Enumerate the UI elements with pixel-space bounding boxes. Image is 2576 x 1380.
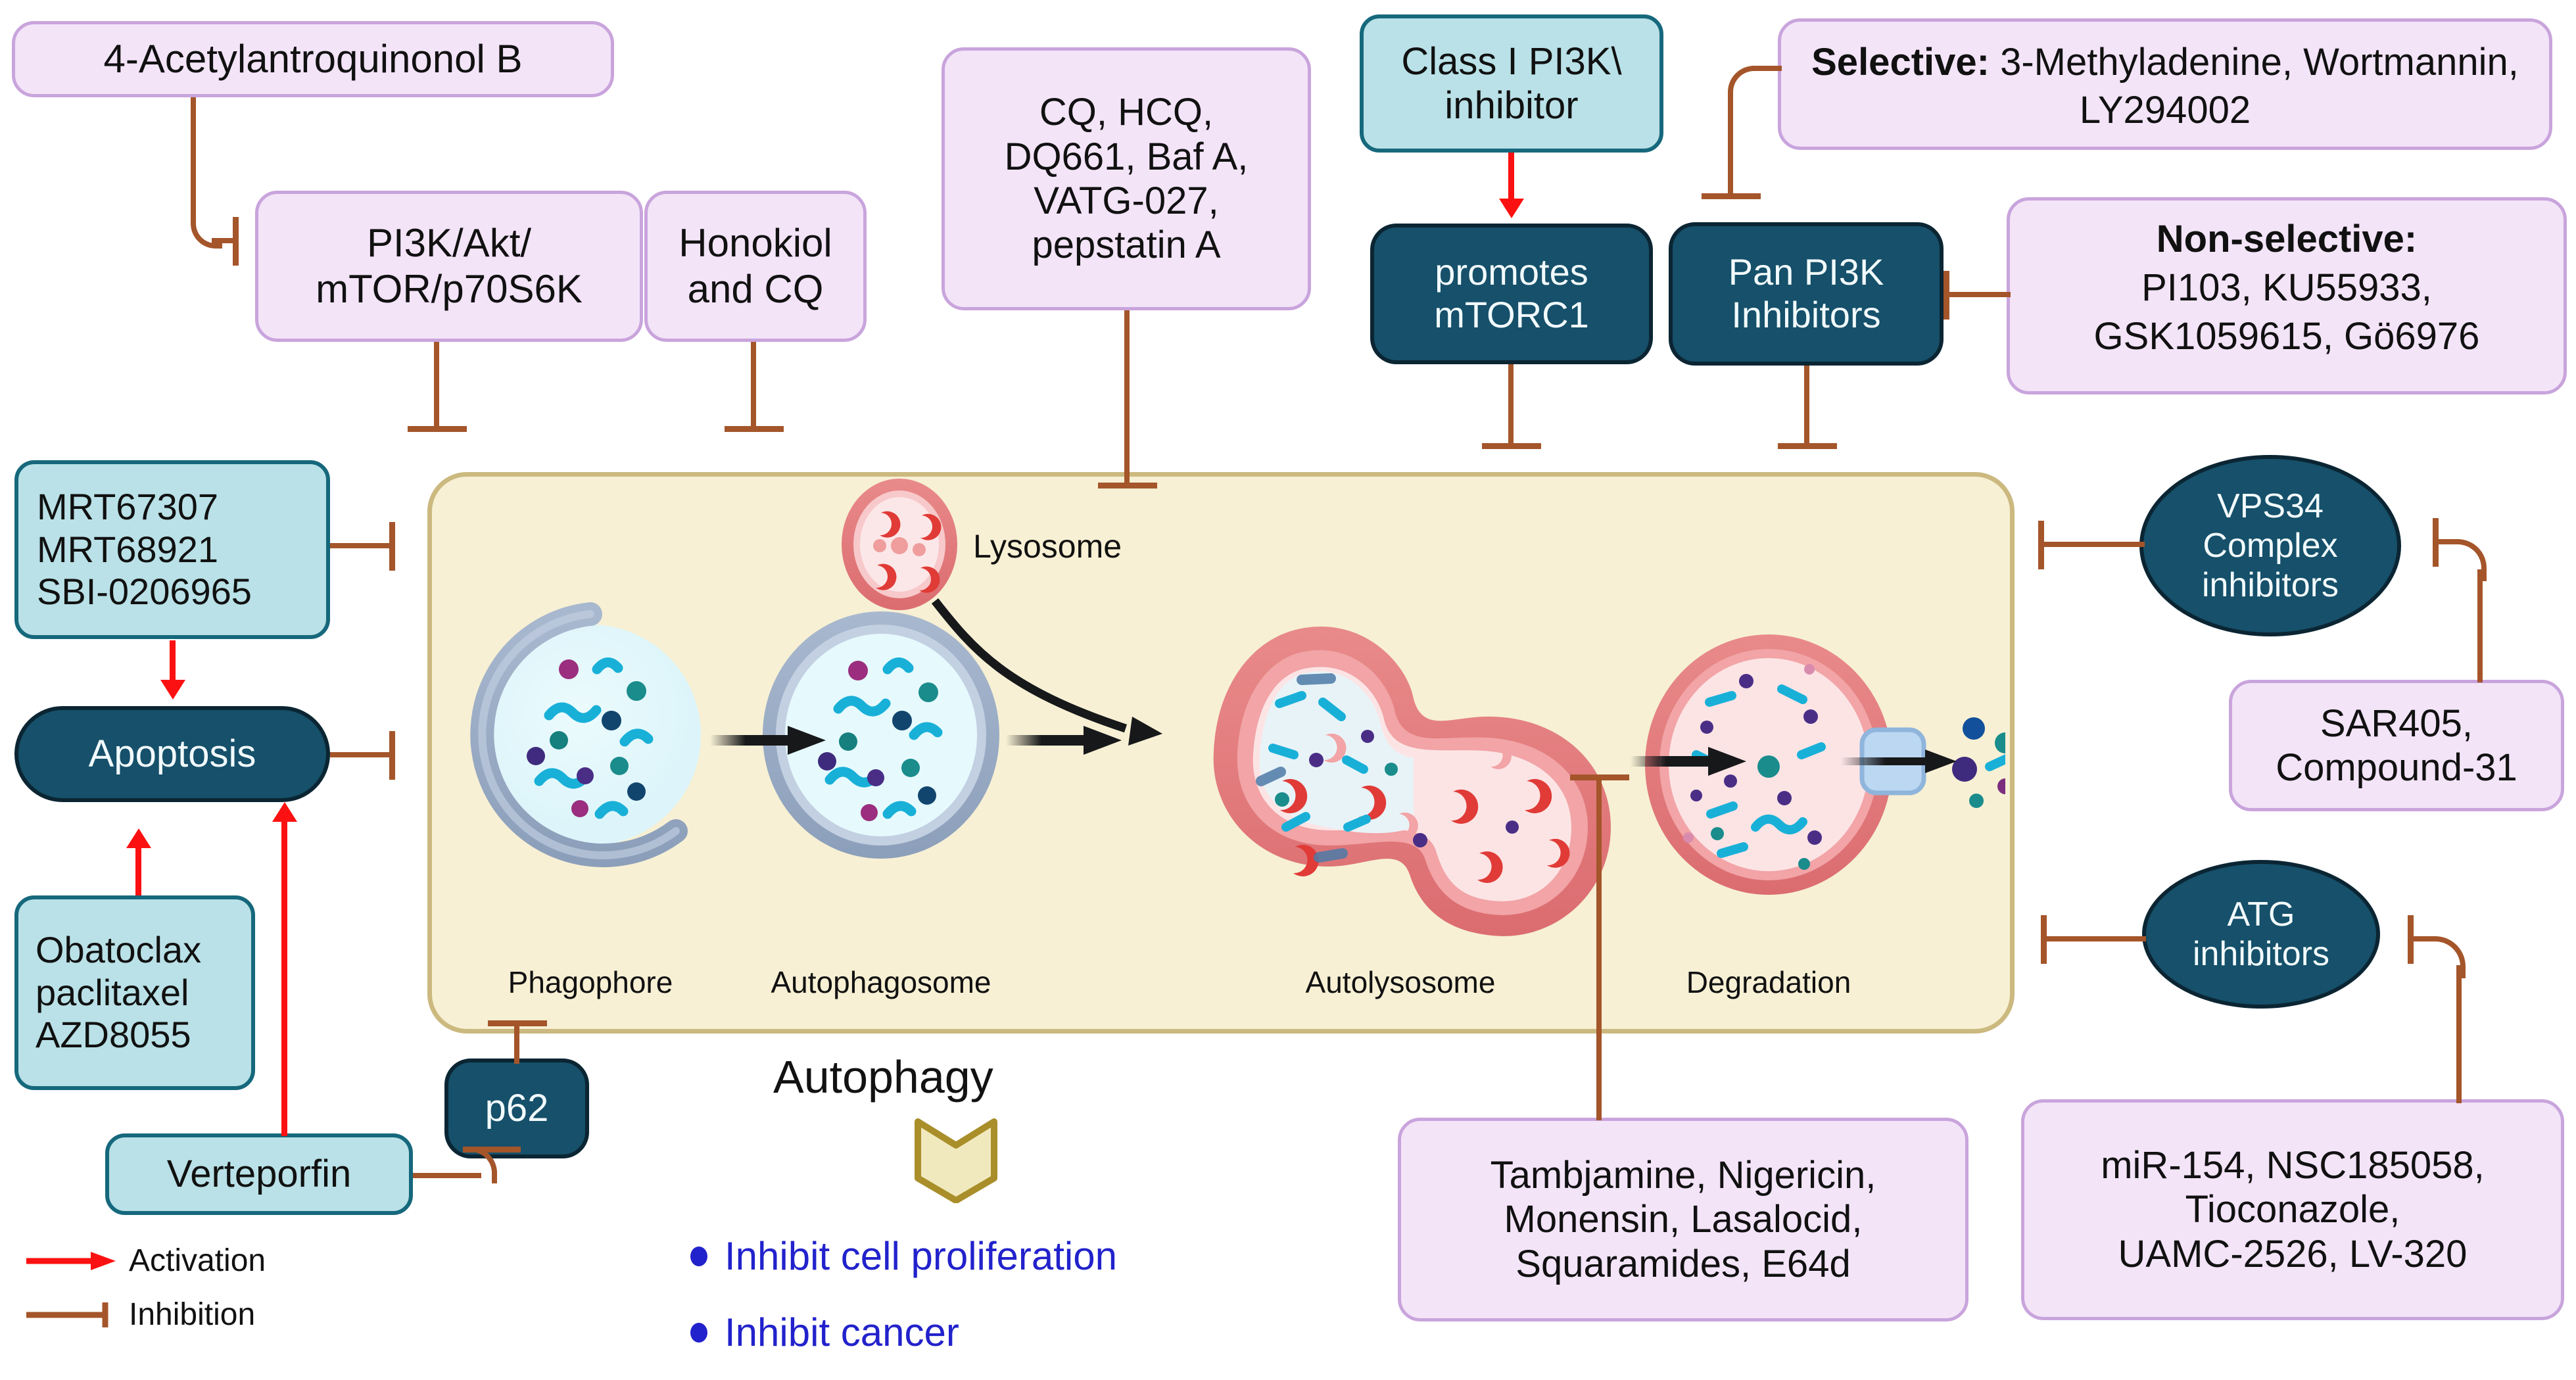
inhibition-cap-nonselective [1944,271,1949,320]
activation-arrow-icon [25,1248,117,1274]
box-pi3k-akt-mtor[interactable]: PI3K/Akt/ mTOR/p70S6K [255,191,643,342]
inhibition-cap-panpi3k [1778,443,1837,449]
conn-atg-left [2045,936,2146,941]
node-p62[interactable]: p62 [444,1059,589,1158]
selective-list: 3-Methyladenine, Wortmannin, LY294002 [1990,41,2519,131]
activation-arrowhead-apoptosis-top [160,680,185,700]
activation-arrowhead-mtorc1 [1499,199,1524,218]
conn-honokiol-down [751,342,756,430]
conn-tambjamine-up [1596,778,1602,1120]
diagram-canvas: Phagophore Autophagosome [0,0,2576,1380]
node-pan-pi3k-inhibitors[interactable]: Pan PI3K Inhibitors [1669,222,1944,366]
box-class1-pi3k-inhibitor[interactable]: Class I PI3K\ inhibitor [1360,14,1663,153]
inhibition-cap-vps34 [2038,521,2044,569]
label-autophagosome: Autophagosome [771,965,991,999]
label-phagophore: Phagophore [508,965,673,999]
inhibition-cap-mir154 [2408,915,2414,964]
nonselective-label: Non-selective: [2157,218,2417,260]
conn-vps34-left [2042,542,2145,547]
node-vps34-complex-inhibitors[interactable]: VPS34 Complex inhibitors [2139,455,2401,636]
nonselective-list: PI103, KU55933, GSK1059615, Gö6976 [2094,266,2480,358]
box-verteporfin[interactable]: Verteporfin [105,1133,413,1215]
conn-acetyl-right [212,238,235,243]
conn-class1-to-mtorc1 [1508,153,1514,201]
box-acetylantroquinonol[interactable]: 4-Acetylantroquinonol B [12,21,614,97]
inhibition-bar-icon [25,1300,117,1330]
conn-mtorc1-down [1508,364,1514,447]
inhibition-cap-p62-bottom [463,1147,521,1153]
bullet-text-0: Inhibit cell proliferation [725,1233,1117,1279]
conn-sar405-up [2477,569,2483,682]
box-obatoclax-list[interactable]: Obatoclax paclitaxel AZD8055 [14,895,255,1090]
node-apoptosis[interactable]: Apoptosis [14,706,330,802]
conn-nonselective-left [1946,292,2011,297]
box-mrt-list[interactable]: MRT67307 MRT68921 SBI-0206965 [14,460,330,639]
bullet-text-1: Inhibit cancer [725,1310,959,1355]
bullet-inhibit-proliferation: Inhibit cell proliferation [690,1233,1117,1279]
organelles-layer: Phagophore Autophagosome [427,472,2005,1024]
conn-mir154-elbow [2412,936,2466,978]
box-nonselective-inhibitors[interactable]: Non-selective:PI103, KU55933, GSK1059615… [2007,197,2567,394]
inhibition-cap-pi3k [408,426,467,432]
conn-verteporfin-to-apoptosis [281,822,287,1136]
conn-mir154-up [2456,965,2462,1103]
box-tambjamine-list[interactable]: Tambjamine, Nigericin, Monensin, Lasaloc… [1398,1118,1968,1321]
label-lysosome: Lysosome [973,528,1122,565]
label-degradation: Degradation [1686,965,1851,999]
inhibition-cap-selective [1702,193,1761,199]
conn-selective-down [1728,105,1733,197]
inhibition-cap-cq [1098,483,1157,488]
selective-label: Selective: [1811,41,1990,83]
legend-inhibition-label: Inhibition [129,1297,255,1333]
conn-sar405-elbow [2435,539,2487,581]
conn-panpi3k-down [1804,366,1809,447]
conn-cq-down [1124,310,1130,487]
box-sar405[interactable]: SAR405, Compound-31 [2229,680,2564,811]
legend-activation-label: Activation [129,1243,266,1279]
inhibition-cap-p62-top [488,1020,547,1026]
conn-mrt-to-apoptosis [170,640,176,684]
legend-inhibition: Inhibition [25,1297,255,1333]
legend-activation: Activation [25,1243,266,1279]
bullet-dot-icon [690,1323,707,1343]
box-mir154-list[interactable]: miR-154, NSC185058, Tioconazole, UAMC-25… [2021,1099,2564,1320]
node-promotes-mtorc1[interactable]: promotes mTORC1 [1370,224,1653,364]
autophagy-title: Autophagy [773,1051,993,1103]
inhibition-cap-mtorc1 [1482,443,1541,449]
conn-apoptosis-right [330,752,393,757]
autophagy-chevron-icon [914,1118,998,1203]
inhibition-cap-apoptosis [389,731,395,780]
activation-arrowhead-obatoclax [126,828,151,848]
inhibition-cap-honokiol [725,426,784,432]
inhibition-cap-tambjamine [1570,774,1629,780]
bullet-dot-icon [690,1247,707,1266]
conn-mrt-right [330,543,393,548]
conn-pi3k-down [434,342,439,430]
inhibition-cap-atg [2041,915,2047,964]
activation-arrowhead-verteporfin [272,802,297,822]
node-atg-inhibitors[interactable]: ATG inhibitors [2142,860,2380,1009]
conn-p62-up [514,1026,519,1064]
bullet-inhibit-cancer: Inhibit cancer [690,1310,959,1355]
inhibition-cap-mrt [389,522,395,571]
box-cq-list[interactable]: CQ, HCQ, DQ661, Baf A, VATG-027, pepstat… [942,47,1311,310]
inhibition-cap-acetyl [233,217,239,266]
box-honokiol[interactable]: Honokiol and CQ [644,191,867,342]
label-autolysosome: Autolysosome [1306,965,1496,999]
conn-obatoclax-to-apoptosis [135,848,141,895]
box-selective-inhibitors[interactable]: Selective: 3-Methyladenine, Wortmannin, … [1778,18,2552,150]
inhibition-cap-sar405 [2433,518,2439,567]
